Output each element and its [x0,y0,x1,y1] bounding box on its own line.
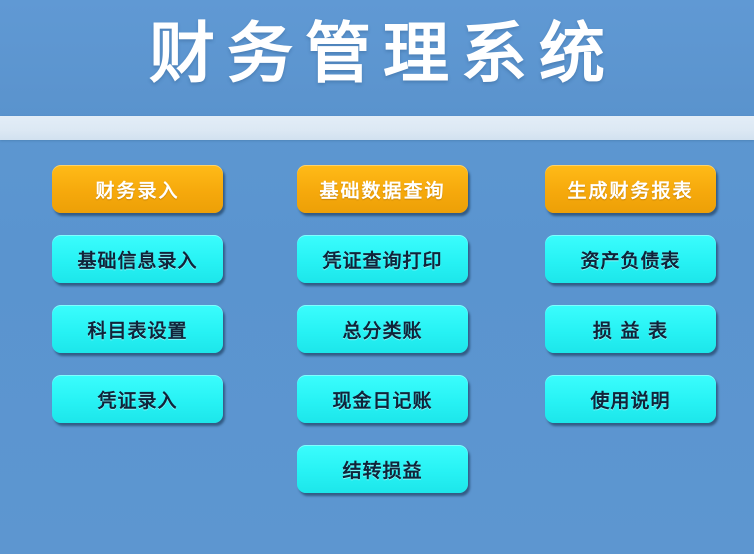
menu-item-voucher-entry[interactable]: 凭证录入 [52,375,223,423]
menu-item-carry-forward-profit-loss[interactable]: 结转损益 [297,445,468,493]
menu-item-basic-info-entry[interactable]: 基础信息录入 [52,235,223,283]
header-divider [0,116,754,140]
menu-item-label: 使用说明 [590,386,670,413]
menu-item-label: 损 益 表 [593,316,668,343]
page-title: 财务管理系统 [0,8,754,100]
menu-item-label: 凭证录入 [97,386,177,413]
menu-item-general-ledger[interactable]: 总分类账 [297,305,468,353]
menu-item-label: 科目表设置 [87,316,187,343]
menu-item-label: 资产负债表 [580,246,680,273]
menu-item-voucher-query-print[interactable]: 凭证查询打印 [297,235,468,283]
menu-item-label: 总分类账 [342,316,422,343]
menu-item-income-statement[interactable]: 损 益 表 [545,305,716,353]
menu-item-cash-journal[interactable]: 现金日记账 [297,375,468,423]
app-root: 财务管理系统 财务录入 基础信息录入 科目表设置 凭证录入 基础数据查询 凭证查… [0,0,754,554]
menu-item-instructions[interactable]: 使用说明 [545,375,716,423]
menu-column-financial-entry: 财务录入 基础信息录入 科目表设置 凭证录入 [52,165,223,445]
menu-header-button-generate-reports[interactable]: 生成财务报表 [545,165,716,213]
menu-item-account-table-setup[interactable]: 科目表设置 [52,305,223,353]
menu-item-balance-sheet[interactable]: 资产负债表 [545,235,716,283]
menu-column-generate-reports: 生成财务报表 资产负债表 损 益 表 使用说明 [545,165,716,445]
menu-item-label: 凭证查询打印 [322,246,442,273]
menu-header-label: 生成财务报表 [567,176,693,203]
menu-item-label: 结转损益 [342,456,422,483]
menu-header-label: 基础数据查询 [319,176,445,203]
menu-item-label: 基础信息录入 [77,246,197,273]
app-header: 财务管理系统 [0,0,754,116]
menu-header-label: 财务录入 [95,176,179,203]
menu-header-button-financial-entry[interactable]: 财务录入 [52,165,223,213]
menu-grid: 财务录入 基础信息录入 科目表设置 凭证录入 基础数据查询 凭证查询打印 总分类… [0,165,754,505]
menu-column-basic-data-query: 基础数据查询 凭证查询打印 总分类账 现金日记账 结转损益 [297,165,468,515]
menu-header-button-basic-data-query[interactable]: 基础数据查询 [297,165,468,213]
menu-item-label: 现金日记账 [332,386,432,413]
